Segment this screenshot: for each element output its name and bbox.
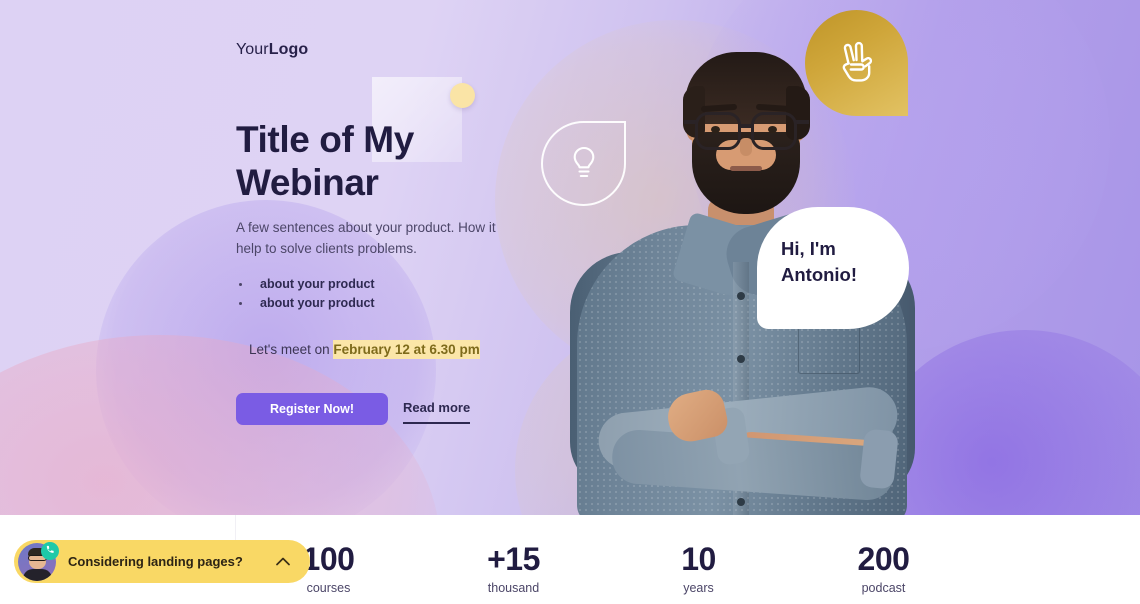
read-more-link[interactable]: Read more bbox=[403, 400, 470, 424]
logo-prefix: Your bbox=[236, 41, 269, 58]
event-date-highlight: February 12 at 6.30 pm bbox=[333, 340, 479, 359]
stat-number: 200 bbox=[791, 541, 976, 577]
chat-message: Considering landing pages? bbox=[68, 554, 276, 569]
photo-nose bbox=[740, 138, 752, 156]
stat-label: years bbox=[606, 581, 791, 595]
photo-shirt-button bbox=[737, 498, 745, 506]
photo-shirt-button bbox=[737, 355, 745, 363]
phone-badge bbox=[41, 542, 59, 560]
logo-bold: Logo bbox=[269, 41, 309, 58]
bullet-label: about your product bbox=[260, 277, 375, 291]
stats-row: 100 courses +15 thousand 10 years 200 po… bbox=[236, 515, 976, 604]
stat-label: thousand bbox=[421, 581, 606, 595]
photo-cuff-right bbox=[859, 428, 899, 489]
hero-section: YourLogo Title of My Webinar A few sente… bbox=[0, 0, 1140, 515]
meet-prefix: Let's meet on bbox=[249, 342, 333, 357]
phone-icon bbox=[45, 542, 56, 560]
chat-widget[interactable]: Considering landing pages? bbox=[14, 540, 310, 583]
yellow-dot-accent bbox=[450, 83, 475, 108]
list-item: about your product bbox=[236, 275, 516, 294]
speech-bubble-text: Hi, I'm Antonio! bbox=[781, 236, 901, 288]
avatar-torso bbox=[23, 569, 52, 581]
stat-years: 10 years bbox=[606, 515, 791, 604]
hero-subcopy: A few sentences about your product. How … bbox=[236, 217, 508, 259]
photo-mouth bbox=[730, 166, 762, 171]
feature-bullet-list: about your product about your product bbox=[236, 275, 516, 313]
photo-glasses-lens-left bbox=[695, 112, 741, 150]
photo-glasses-lens-right bbox=[751, 112, 797, 150]
photo-glasses-arm-right bbox=[795, 120, 809, 124]
chevron-up-icon[interactable] bbox=[276, 557, 290, 566]
avatar bbox=[18, 543, 56, 581]
stat-number: +15 bbox=[421, 541, 606, 577]
stat-number: 10 bbox=[606, 541, 791, 577]
stat-podcast: 200 podcast bbox=[791, 515, 976, 604]
bullet-label: about your product bbox=[260, 296, 375, 310]
victory-hand-badge bbox=[805, 10, 908, 116]
list-item: about your product bbox=[236, 294, 516, 313]
register-button[interactable]: Register Now! bbox=[236, 393, 388, 425]
stat-label: courses bbox=[236, 581, 421, 595]
page-title: Title of My Webinar bbox=[236, 118, 556, 204]
stat-thousand: +15 thousand bbox=[421, 515, 606, 604]
brand-logo[interactable]: YourLogo bbox=[236, 40, 536, 60]
stat-label: podcast bbox=[791, 581, 976, 595]
photo-shirt-button bbox=[737, 292, 745, 300]
photo-glasses-bridge bbox=[740, 124, 753, 128]
event-datetime: Let's meet on February 12 at 6.30 pm bbox=[249, 341, 539, 359]
